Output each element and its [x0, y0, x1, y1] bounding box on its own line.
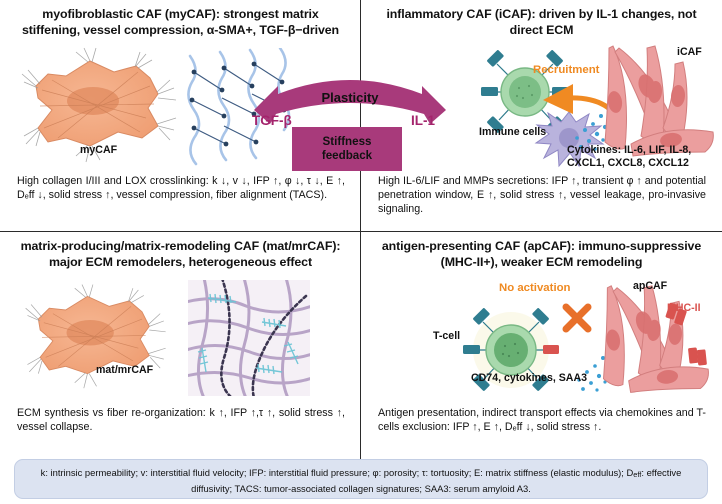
divider-horizontal — [0, 231, 722, 232]
panel-apcaf-title: antigen-presenting CAF (apCAF): immuno-s… — [361, 232, 722, 270]
legend-line-1: k: intrinsic permeability; v: interstiti… — [41, 467, 580, 478]
no-activation-label: No activation — [499, 282, 571, 294]
stiffness-feedback-line1: Stiffness — [323, 135, 372, 149]
panel-icaf-title: inflammatory CAF (iCAF): driven by IL-1 … — [361, 0, 722, 38]
icaf-cytokines-label: Cytokines: IL-6, LIF, IL-8, CXCL1, CXCL8… — [567, 144, 722, 170]
stiffness-feedback-box: Stiffness feedback — [292, 127, 402, 171]
panel-icaf-body: High IL-6/LIF and MMPs secretions: IFP ↑… — [361, 174, 722, 232]
apcaf-artwork: T-cell No activation — [361, 276, 722, 396]
matcaf-cell-label: mat/mrCAF — [96, 364, 153, 376]
tgf-beta-label: TGF-β — [252, 113, 292, 128]
matcaf-artwork: mat/mrCAF — [0, 280, 361, 396]
panel-matcaf-body: ECM synthesis vs fiber re-organization: … — [0, 406, 361, 450]
panel-apcaf: antigen-presenting CAF (apCAF): immuno-s… — [361, 232, 722, 450]
il-1-label: IL-1 — [411, 113, 435, 128]
mhc-ii-label: MHC-II — [667, 302, 701, 314]
divider-vertical-stub-bottom — [360, 450, 361, 459]
apcaf-cells-icon — [579, 280, 721, 404]
t-cell-label: T-cell — [433, 330, 460, 342]
panel-grid: myofibroblastic CAF (myCAF): strongest m… — [0, 0, 722, 450]
apcaf-cell-label: apCAF — [633, 280, 667, 292]
panel-mycaf-body: High collagen I/III and LOX crosslinking… — [0, 174, 361, 232]
icaf-cell-label: iCAF — [677, 46, 702, 58]
legend-line-2a: modulus); D — [583, 467, 634, 478]
divider-vertical — [360, 0, 361, 450]
ecm-fiber-network-icon — [188, 280, 310, 396]
mycaf-cell-label: myCAF — [80, 144, 117, 156]
panel-matcaf: matrix-producing/matrix-remodeling CAF (… — [0, 232, 361, 450]
abbreviation-legend: k: intrinsic permeability; v: interstiti… — [14, 459, 708, 499]
plasticity-module: Plasticity Stiffness feedback TGF-β IL-1 — [244, 80, 456, 176]
panel-matcaf-title: matrix-producing/matrix-remodeling CAF (… — [0, 232, 361, 270]
stiffness-feedback-line2: feedback — [322, 149, 372, 163]
caf-subtype-figure: myofibroblastic CAF (myCAF): strongest m… — [0, 0, 722, 504]
apcaf-markers-label: CD74, cytokines, SAA3 — [471, 372, 601, 385]
panel-apcaf-body: Antigen presentation, indirect transport… — [361, 406, 722, 450]
plasticity-label: Plasticity — [244, 90, 456, 105]
panel-mycaf-title: myofibroblastic CAF (myCAF): strongest m… — [0, 0, 361, 38]
